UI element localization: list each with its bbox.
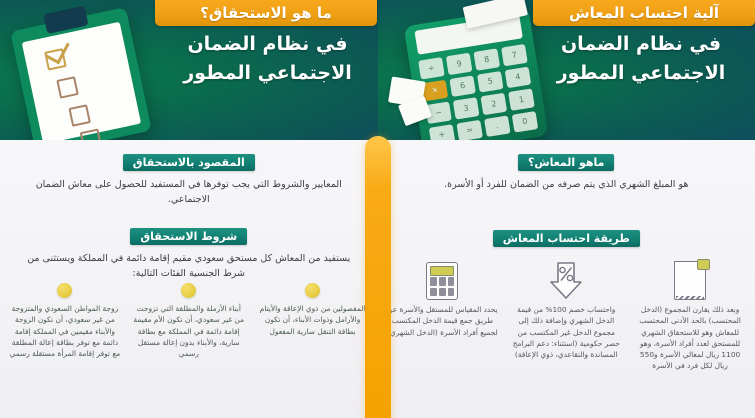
badge-calc-method: طريقة احتساب المعاش: [493, 230, 640, 247]
right-section-calc-method: طريقة احتساب المعاش: [378, 230, 755, 247]
center-orange-divider: [365, 136, 391, 418]
category-item: أبناء الأرملة والمطلقة التي تزوجت من غير…: [128, 283, 250, 412]
left-content-panel: المقصود بالاستحقاق المعايير والشروط التي…: [0, 140, 378, 418]
left-section-conditions: شروط الاستحقاق يستفيد من المعاش كل مستحق…: [0, 228, 378, 281]
left-section-definition: المقصود بالاستحقاق المعايير والشروط التي…: [0, 154, 378, 207]
right-step-columns: وبعد ذلك يقارن المجموع (الدخل المحتسب) ب…: [382, 258, 752, 412]
left-category-columns: المفصولين من ذوي الإعاقة والأيتام والأرا…: [4, 283, 374, 412]
category-text: المفصولين من ذوي الإعاقة والأيتام والأرا…: [256, 303, 370, 337]
step-item: واحتساب خصم 100% من قيمة الدخل الشهري وإ…: [505, 258, 627, 412]
infographic-root: في نظام الضمان الاجتماعي المطور 789÷ 456…: [0, 0, 755, 418]
text-eligibility-conditions: يستفيد من المعاش كل مستحق سعودي مقيم إقا…: [24, 252, 354, 281]
badge-eligibility-conditions: شروط الاستحقاق: [130, 228, 247, 245]
right-hero-title: في نظام الضمان الاجتماعي المطور: [545, 30, 737, 87]
right-ribbon-title: آلية احتساب المعاش: [533, 0, 755, 26]
text-what-is-pension: هو المبلغ الشهري الذي يتم صرفه من الضمان…: [402, 178, 732, 193]
calculator-illustration: 789÷ 456× 123− 0.=+: [403, 7, 548, 140]
receipt-icon: [674, 263, 706, 300]
category-text: أبناء الأرملة والمطلقة التي تزوجت من غير…: [132, 303, 246, 359]
gold-dot-icon: [181, 283, 196, 298]
step-item: يحدد المقياس للمستقل والأسرة عن طريق جمع…: [382, 258, 504, 412]
step-item: وبعد ذلك يقارن المجموع (الدخل المحتسب) ب…: [629, 258, 751, 412]
badge-eligibility-meaning: المقصود بالاستحقاق: [123, 154, 255, 171]
gold-dot-icon: [57, 283, 72, 298]
percent-down-icon: [549, 262, 583, 300]
clipboard-checklist-icon: [10, 7, 152, 140]
category-item: زوجة المواطن السعودي والمتزوجة من غير سع…: [4, 283, 126, 412]
text-eligibility-meaning: المعايير والشروط التي يجب توفرها في المس…: [24, 178, 354, 207]
step-text: واحتساب خصم 100% من قيمة الدخل الشهري وإ…: [509, 304, 623, 360]
right-section-what-is-pension: ماهو المعاش؟ هو المبلغ الشهري الذي يتم ص…: [378, 154, 755, 193]
badge-what-is-pension: ماهو المعاش؟: [518, 154, 614, 171]
calculator-icon: [426, 262, 458, 300]
step-text: وبعد ذلك يقارن المجموع (الدخل المحتسب) ب…: [633, 304, 747, 372]
category-text: زوجة المواطن السعودي والمتزوجة من غير سع…: [8, 303, 122, 359]
right-content-panel: ماهو المعاش؟ هو المبلغ الشهري الذي يتم ص…: [378, 140, 755, 418]
category-item: المفصولين من ذوي الإعاقة والأيتام والأرا…: [252, 283, 374, 412]
left-hero-title: في نظام الضمان الاجتماعي المطور: [172, 30, 364, 87]
gold-dot-icon: [305, 283, 320, 298]
step-text: يحدد المقياس للمستقل والأسرة عن طريق جمع…: [386, 304, 500, 338]
left-ribbon-title: ما هو الاستحقاق؟: [155, 0, 377, 26]
